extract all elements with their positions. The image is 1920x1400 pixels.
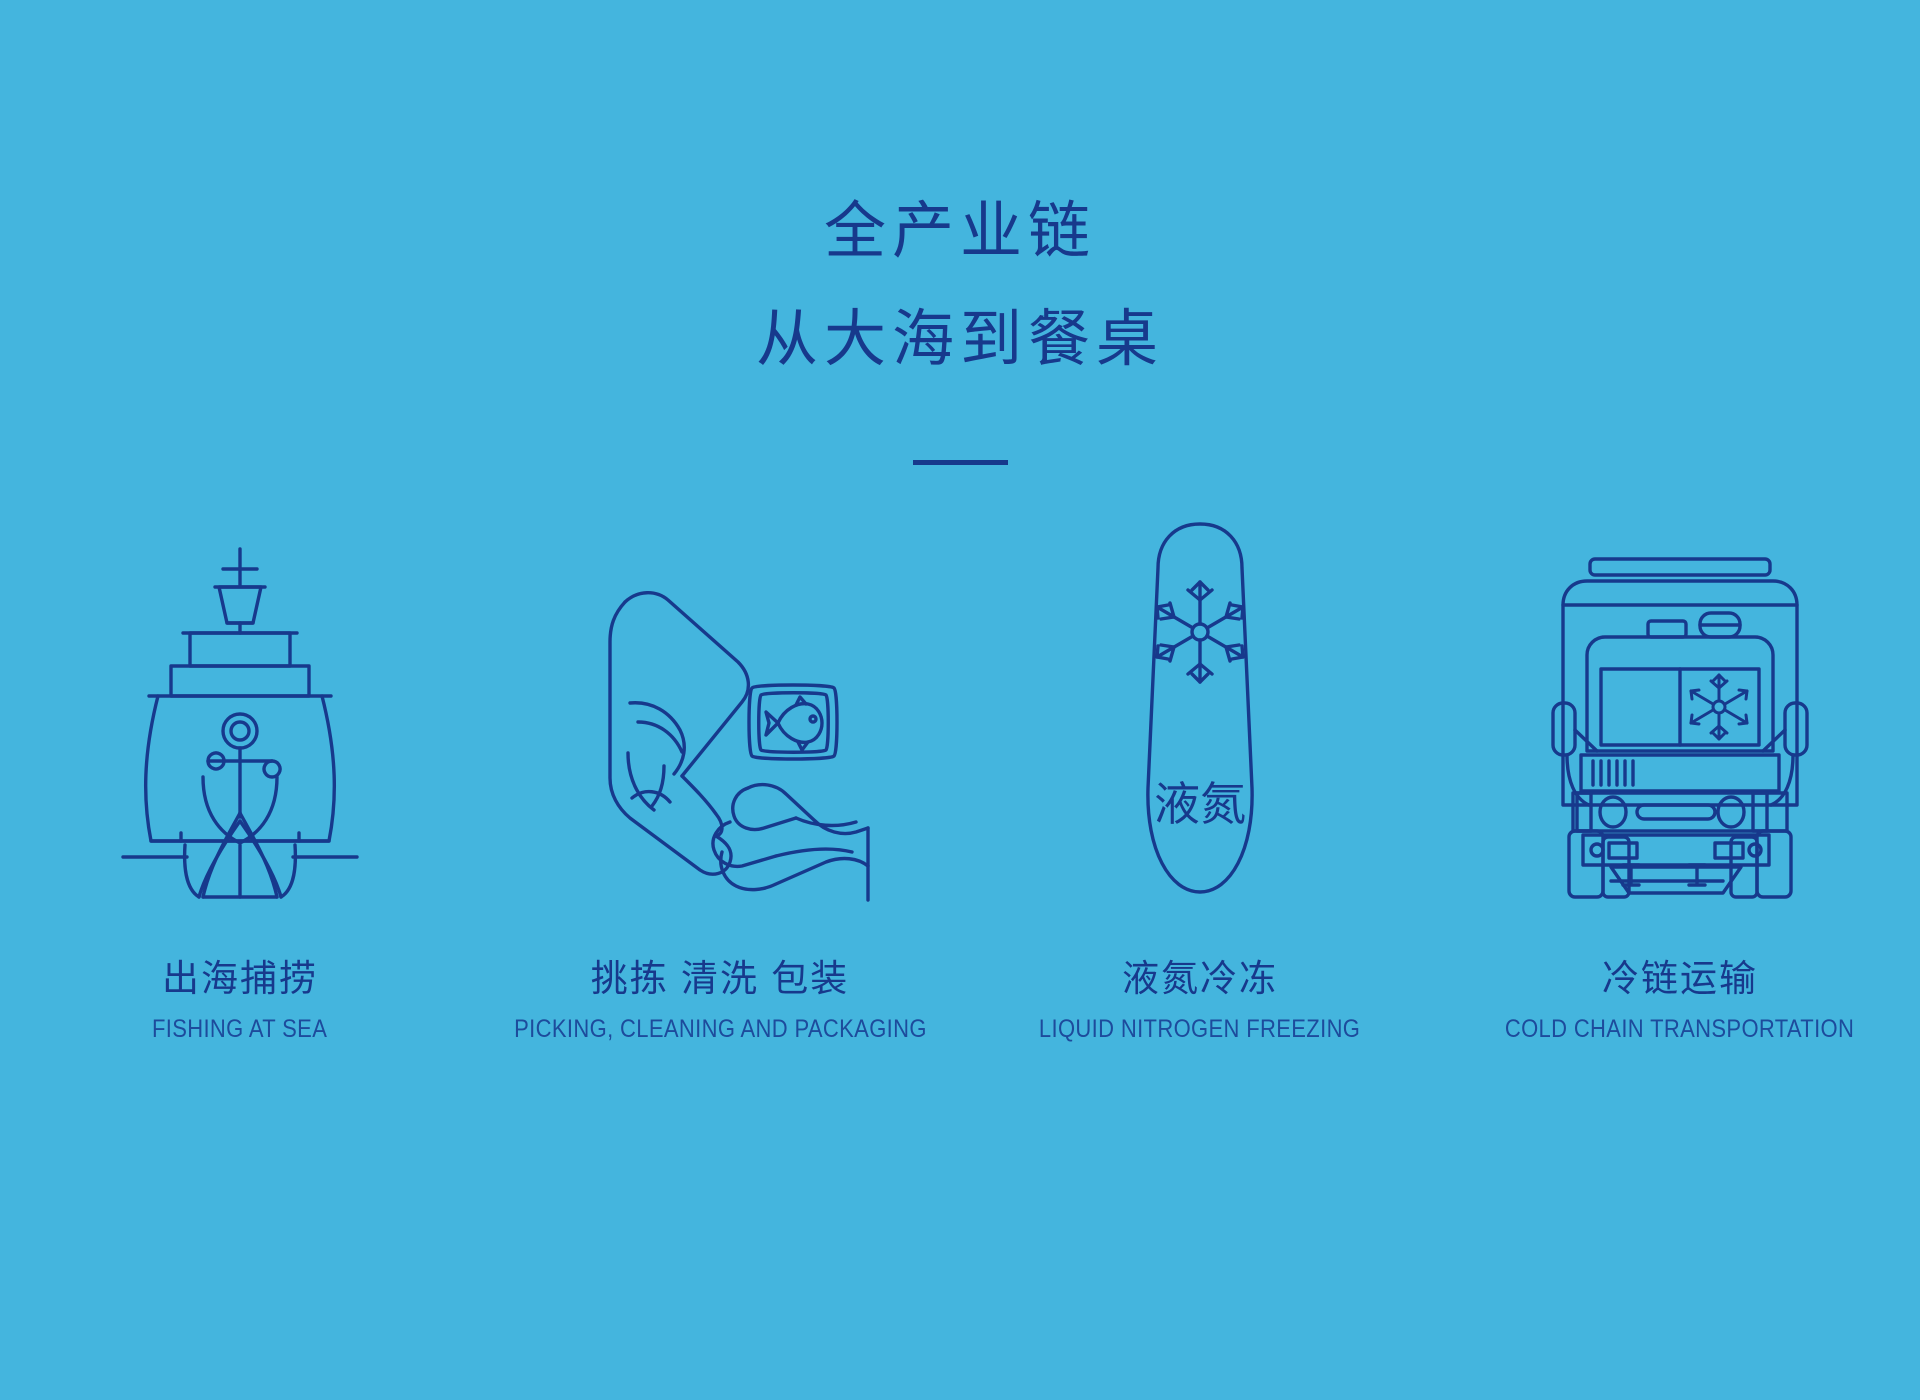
title-divider [913,460,1008,465]
step-cold-chain-transportation: 冷链运输 COLD CHAIN TRANSPORTATION [1440,520,1920,1044]
step-3-icon-box: 液氮 [1130,520,1270,900]
step-2-labels: 挑拣 清洗 包装 PICKING, CLEANING AND PACKAGING [486,956,955,1044]
step-1-icon-box [115,520,365,900]
infographic-page: 全产业链 从大海到餐桌 [0,0,1920,1400]
step-1-label-cn: 出海捕捞 [140,956,339,1002]
step-liquid-nitrogen-freezing: 液氮 液氮冷冻 LIQUID NITROGEN FREEZING [960,520,1440,1044]
snowflake-icon [1157,582,1243,682]
refrigerated-truck-icon [1545,555,1815,900]
step-2-label-en: PICKING, CLEANING AND PACKAGING [514,1015,927,1044]
step-1-labels: 出海捕捞 FISHING AT SEA [140,956,339,1044]
step-3-label-cn: 液氮冷冻 [1017,956,1382,1002]
step-fishing-at-sea: 出海捕捞 FISHING AT SEA [0,520,480,1044]
step-4-icon-box [1545,520,1815,900]
step-2-label-cn: 挑拣 清洗 包装 [486,956,955,1002]
step-picking-cleaning-packaging: 挑拣 清洗 包装 PICKING, CLEANING AND PACKAGING [480,520,960,1044]
fishing-boat-anchor-icon [115,545,365,900]
page-header: 全产业链 从大海到餐桌 [0,190,1920,380]
step-2-icon-box [570,520,870,900]
tank-inner-text: 液氮 [1154,778,1246,830]
step-1-label-en: FISHING AT SEA [152,1015,327,1044]
step-3-label-en: LIQUID NITROGEN FREEZING [1039,1015,1360,1044]
step-4-label-cn: 冷链运输 [1481,956,1878,1002]
page-title-line-2: 从大海到餐桌 [0,298,1920,380]
liquid-nitrogen-tank-icon: 液氮 [1130,520,1270,900]
hands-packaged-fish-icon [570,570,870,900]
process-steps-row: 出海捕捞 FISHING AT SEA [0,520,1920,1044]
page-title-line-1: 全产业链 [0,190,1920,272]
step-3-labels: 液氮冷冻 LIQUID NITROGEN FREEZING [1017,956,1382,1044]
step-4-label-en: COLD CHAIN TRANSPORTATION [1505,1015,1854,1044]
step-4-labels: 冷链运输 COLD CHAIN TRANSPORTATION [1481,956,1878,1044]
title-divider-wrap [0,460,1920,465]
truck-snowflake-icon [1691,675,1747,739]
